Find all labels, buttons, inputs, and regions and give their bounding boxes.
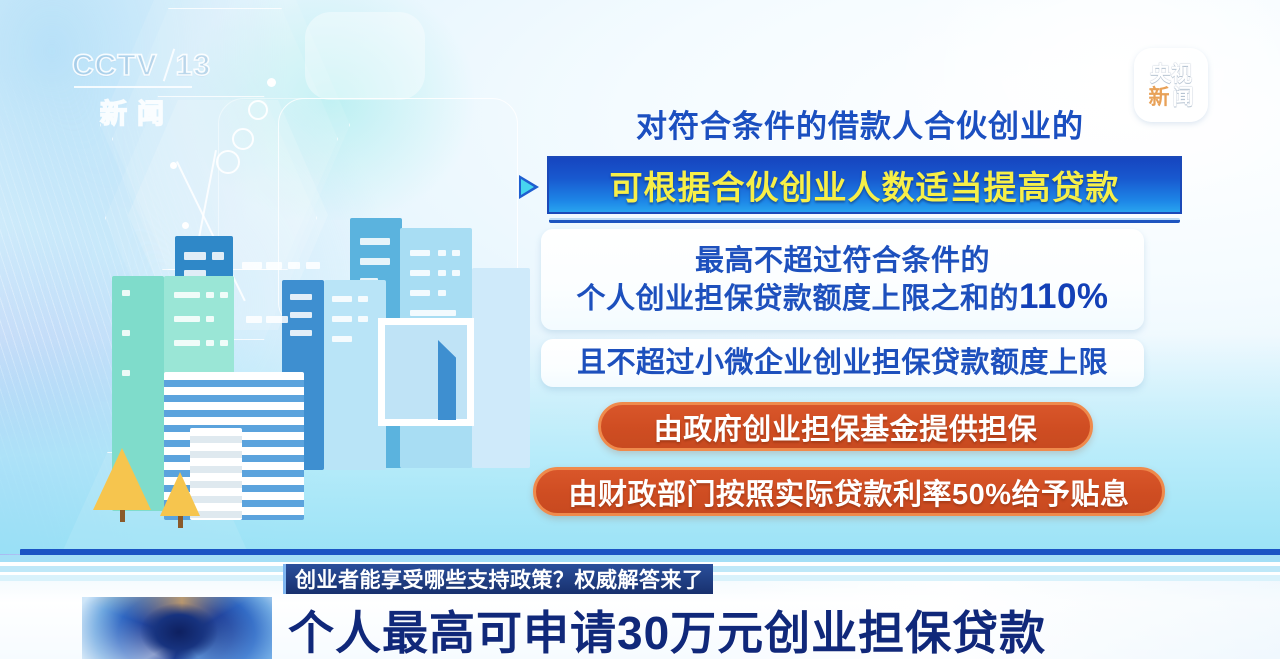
info-card-limit-percent: 110%	[1019, 277, 1109, 316]
decor-circle-1	[248, 100, 268, 120]
highlight-arrow-inner-icon	[521, 179, 534, 195]
decor-rounded-square-topright	[305, 12, 425, 100]
pill-government-guarantee: 由政府创业担保基金提供担保	[598, 402, 1093, 451]
info-card-sme-cap: 且不超过小微企业创业担保贷款额度上限	[541, 339, 1144, 387]
building-white-frame	[378, 318, 474, 426]
cctv-wordmark: CCTV	[72, 50, 158, 82]
cctv-logo-subtitle: 新闻	[100, 92, 174, 131]
decor-dot-1	[267, 78, 276, 87]
banner-kicker-text: 创业者能享受哪些支持政策？权威解答来了	[295, 564, 704, 594]
building-pale-right	[472, 268, 530, 468]
decor-circle-3	[216, 150, 240, 174]
cctv-logo-row: CCTV 13	[72, 50, 212, 82]
info-card-limit-line2: 个人创业担保贷款额度上限之和的110%	[576, 279, 1108, 317]
decor-circle-2	[232, 128, 254, 150]
city-money-illustration	[60, 190, 570, 555]
tree-right	[160, 472, 200, 528]
cctv-channel-number: 13	[166, 50, 215, 82]
pill-interest-subsidy-text: 由财政部门按照实际贷款利率50%给予贴息	[568, 471, 1129, 513]
cctv-channel-logo: CCTV 13 新闻	[72, 50, 212, 132]
building-pale-blue-box	[324, 280, 386, 470]
info-card-limit-line1: 最高不超过符合条件的	[695, 243, 990, 279]
cctv-slash-divider	[162, 49, 174, 82]
banner-corner-artwork	[82, 597, 272, 659]
banner-corner-glow	[140, 603, 218, 659]
pill-interest-subsidy: 由财政部门按照实际贷款利率50%给予贴息	[533, 467, 1165, 516]
cctv-logo-underline	[74, 86, 192, 88]
screen-stage: CCTV 13 新闻 央视 新 闻	[0, 0, 1280, 659]
tree-left	[93, 448, 151, 522]
banner-headline: 个人最高可申请30万元创业担保贷款	[288, 597, 1046, 659]
highlight-bar-text: 可根据合伙创业人数适当提高贷款	[610, 161, 1120, 209]
info-card-limit: 最高不超过符合条件的 个人创业担保贷款额度上限之和的110%	[541, 229, 1144, 330]
highlight-row: 可根据合伙创业人数适当提高贷款	[519, 156, 1182, 218]
lead-title: 对符合条件的借款人合伙创业的	[545, 101, 1175, 146]
cctv-channel-number-text: 13	[176, 49, 211, 82]
news-badge-row-top: 央视	[1150, 64, 1192, 86]
banner-kicker: 创业者能享受哪些支持政策？权威解答来了	[283, 564, 713, 594]
pill-government-guarantee-text: 由政府创业担保基金提供担保	[654, 406, 1038, 448]
news-badge-line2-white: 闻	[1173, 87, 1194, 109]
highlight-bar: 可根据合伙创业人数适当提高贷款	[547, 156, 1182, 214]
news-badge-line1: 央视	[1150, 64, 1192, 86]
highlight-underline	[549, 218, 1180, 223]
info-card-sme-cap-text: 且不超过小微企业创业担保贷款额度上限	[577, 345, 1108, 381]
info-card-limit-line2-prefix: 个人创业担保贷款额度上限之和的	[576, 283, 1019, 315]
